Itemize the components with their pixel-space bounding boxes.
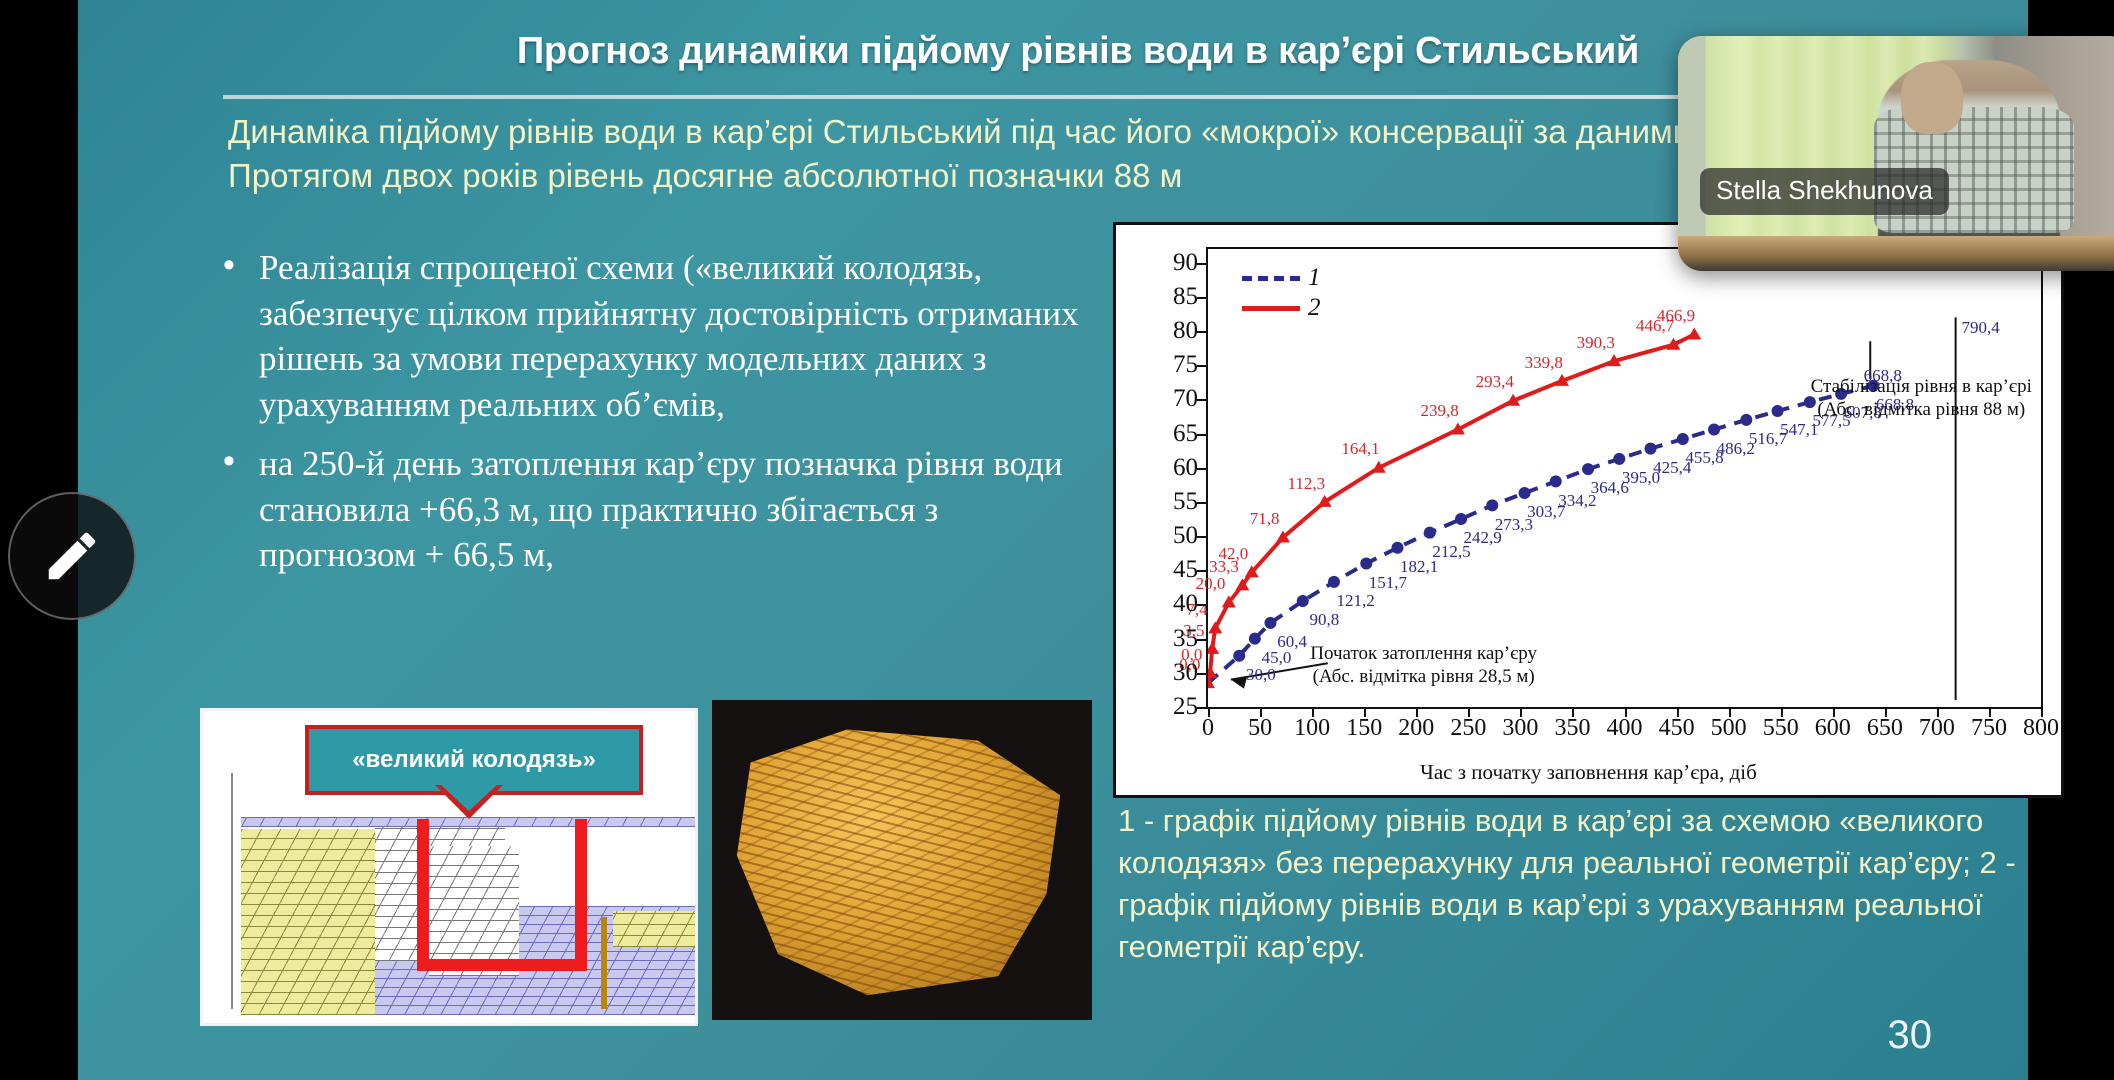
chart-x-tickmark: [1312, 707, 1314, 717]
chart-x-tick: 750: [1971, 715, 2007, 742]
cross-section-drawing: «великий колодязь»: [213, 721, 687, 1015]
chart-x-tick: 50: [1248, 715, 1272, 742]
quarry-3d-model: [730, 724, 1074, 998]
chart-annotation-extra-label-668: 668,8: [1864, 366, 1902, 386]
list-item: • на 250-й день затоплення кар’єру позна…: [223, 441, 1093, 578]
chart-data-point: [1264, 617, 1276, 629]
chart-y-tick: 75: [1173, 351, 1198, 379]
chart-x-tick: 150: [1346, 715, 1382, 742]
chart-y-tick: 45: [1173, 556, 1198, 584]
pencil-icon: [41, 525, 103, 587]
chart-x-tickmark: [1208, 707, 1210, 717]
chart-point-label: 71,8: [1250, 509, 1280, 529]
chart-point-label: 293,4: [1476, 372, 1514, 392]
screen-root: Прогноз динаміки підйому рівнів води в к…: [0, 0, 2114, 1080]
chart-data-point: [1424, 527, 1436, 539]
chart-caption: 1 - графік підйому рівнів води в кар’єрі…: [1118, 800, 2058, 969]
layer-yellow-right: [613, 911, 695, 947]
well-callout-label: «великий колодязь»: [352, 746, 596, 774]
edit-button[interactable]: [8, 492, 136, 620]
chart-y-tick: 80: [1173, 317, 1198, 345]
chart-x-tick: 650: [1867, 715, 1903, 742]
chart-y-tickmark: [1197, 673, 1208, 675]
chart-y-tickmark: [1197, 399, 1208, 401]
page-title: Прогноз динаміки підйому рівнів води в к…: [228, 30, 1928, 73]
chart-y-tickmark: [1197, 365, 1208, 367]
chart-y-tick: 40: [1173, 590, 1198, 618]
chart-point-label: 30,0: [1246, 665, 1276, 685]
bullet-text: на 250-й день затоплення кар’єру позначк…: [259, 441, 1093, 578]
chart-data-point: [1360, 557, 1372, 569]
chart-x-tickmark: [1364, 707, 1366, 717]
webcam-overlay[interactable]: Stella Shekhunova: [1678, 36, 2114, 271]
participant-name-badge: Stella Shekhunova: [1700, 168, 1949, 215]
webcam-desk: [1678, 236, 2114, 271]
chart-data-point: [1233, 650, 1245, 662]
chart-x-tick: 250: [1450, 715, 1486, 742]
chart-series-line: [1208, 334, 1694, 683]
chart-y-tickmark: [1197, 604, 1208, 606]
chart-data-point: [1550, 475, 1562, 487]
chart-x-tick: 800: [2023, 715, 2059, 742]
chart-y-tickmark: [1197, 707, 1208, 709]
chart-x-tick: 350: [1554, 715, 1590, 742]
chart-x-tick: 200: [1398, 715, 1434, 742]
chart-annotation-extra-label-790: 790,4: [1961, 317, 1999, 337]
page-number: 30: [1888, 1013, 1933, 1058]
chart-point-label: 20,0: [1196, 574, 1226, 594]
chart-y-tick: 50: [1173, 522, 1198, 550]
chart-point-label: 90,8: [1310, 610, 1340, 630]
quarry-3d-figure: [712, 700, 1092, 1020]
chart-y-tick: 65: [1173, 420, 1198, 448]
chart-y-tickmark: [1197, 331, 1208, 333]
chart-x-tickmark: [1729, 707, 1731, 717]
chart-data-point: [1249, 633, 1261, 645]
chart-y-tickmark: [1197, 570, 1208, 572]
chart-annotation-stabilization: Стабілізація рівня в кар’єрі(Абс. відміт…: [1811, 377, 2032, 423]
chart-point-label: 239,8: [1420, 401, 1458, 421]
chart-x-tickmark: [1260, 707, 1262, 717]
chart-x-tickmark: [1781, 707, 1783, 717]
bullet-dot-icon: •: [223, 441, 259, 578]
chart-data-point: [1677, 433, 1689, 445]
chart-data-point: [1613, 453, 1625, 465]
chart-x-axis-label: Час з початку заповнення кар’єра, діб: [1116, 760, 2061, 785]
chart-x-tickmark: [1885, 707, 1887, 717]
chart-data-point: [1455, 513, 1467, 525]
chart-point-label: 390,3: [1577, 333, 1615, 353]
depth-axis: [231, 773, 233, 1009]
webcam-head: [1901, 62, 1963, 134]
chart-x-tickmark: [1625, 707, 1627, 717]
chart-panel: Абсолютна відмітка рівня, м Час з початк…: [1113, 222, 2064, 798]
chart-x-tickmark: [1989, 707, 1991, 717]
chart-point-label: 121,2: [1337, 591, 1375, 611]
chart-plot-area: 1 2 30,045,060,490,8121,2151,7182,1212,5…: [1206, 247, 2043, 709]
chart-point-label: 164,1: [1341, 439, 1379, 459]
chart-y-tickmark: [1197, 263, 1208, 265]
chart-y-tick: 85: [1173, 283, 1198, 311]
bullet-text: Реалізація спрощеної схеми («великий кол…: [259, 245, 1093, 427]
chart-y-tick: 70: [1173, 385, 1198, 413]
chart-annotation-flood-start: Початок затоплення кар’єру(Абс. відмітка…: [1310, 643, 1537, 689]
chart-x-tickmark: [1520, 707, 1522, 717]
chart-y-tick: 35: [1173, 625, 1198, 653]
chart-x-tick: 550: [1763, 715, 1799, 742]
chart-data-point: [1645, 443, 1657, 455]
bullet-dot-icon: •: [223, 245, 259, 427]
chart-x-tickmark: [2041, 707, 2043, 717]
chart-x-tick: 450: [1659, 715, 1695, 742]
chart-data-point: [1328, 576, 1340, 588]
chart-x-tick: 0: [1202, 715, 1214, 742]
chart-data-point: [1297, 595, 1309, 607]
chart-data-point: [1486, 499, 1498, 511]
chart-data-point: [1392, 542, 1404, 554]
chart-y-tick: 25: [1173, 693, 1198, 721]
chart-data-point: [1687, 327, 1701, 339]
chart-y-tick: 60: [1173, 454, 1198, 482]
chart-data-point: [1772, 405, 1784, 417]
chart-point-label: 466,9: [1657, 306, 1695, 326]
chart-y-tickmark: [1197, 502, 1208, 504]
chart-x-tickmark: [1833, 707, 1835, 717]
borehole: [601, 917, 607, 1009]
chart-y-tick: 55: [1173, 488, 1198, 516]
chart-y-tick: 30: [1173, 659, 1198, 687]
cross-section-figure: «великий колодязь»: [200, 708, 698, 1026]
chart-x-tickmark: [1572, 707, 1574, 717]
chart-x-tickmark: [1468, 707, 1470, 717]
chart-x-tick: 300: [1502, 715, 1538, 742]
chart-data-point: [1519, 487, 1531, 499]
chart-x-tick: 700: [1919, 715, 1955, 742]
layer-yellow: [241, 829, 375, 1015]
chart-x-tickmark: [1677, 707, 1679, 717]
layer-rock-step: [429, 846, 519, 976]
chart-y-tickmark: [1197, 297, 1208, 299]
chart-y-tickmark: [1197, 434, 1208, 436]
callout-pointer-fill: [439, 783, 499, 811]
well-wall-right: [575, 819, 587, 967]
chart-data-point: [1582, 463, 1594, 475]
chart-data-point: [1708, 423, 1720, 435]
chart-x-tick: 100: [1294, 715, 1330, 742]
chart-x-tickmark: [1416, 707, 1418, 717]
chart-y-tickmark: [1197, 468, 1208, 470]
chart-x-tick: 600: [1815, 715, 1851, 742]
bullet-list: • Реалізація спрощеної схеми («великий к…: [223, 245, 1093, 592]
chart-point-label: 42,0: [1219, 544, 1249, 564]
chart-x-tick: 500: [1711, 715, 1747, 742]
chart-y-tickmark: [1197, 639, 1208, 641]
chart-point-label: 339,8: [1525, 353, 1563, 373]
chart-y-tick: 90: [1173, 249, 1198, 277]
chart-x-tick: 400: [1607, 715, 1643, 742]
chart-x-tickmark: [1937, 707, 1939, 717]
list-item: • Реалізація спрощеної схеми («великий к…: [223, 245, 1093, 427]
chart-point-label: 60,4: [1277, 632, 1307, 652]
slide-canvas: Прогноз динаміки підйому рівнів води в к…: [78, 0, 2028, 1080]
chart-point-label: 112,3: [1287, 474, 1325, 494]
well-wall-left: [417, 819, 429, 967]
chart-data-point: [1740, 414, 1752, 426]
well-bottom: [417, 959, 587, 971]
chart-y-tickmark: [1197, 536, 1208, 538]
